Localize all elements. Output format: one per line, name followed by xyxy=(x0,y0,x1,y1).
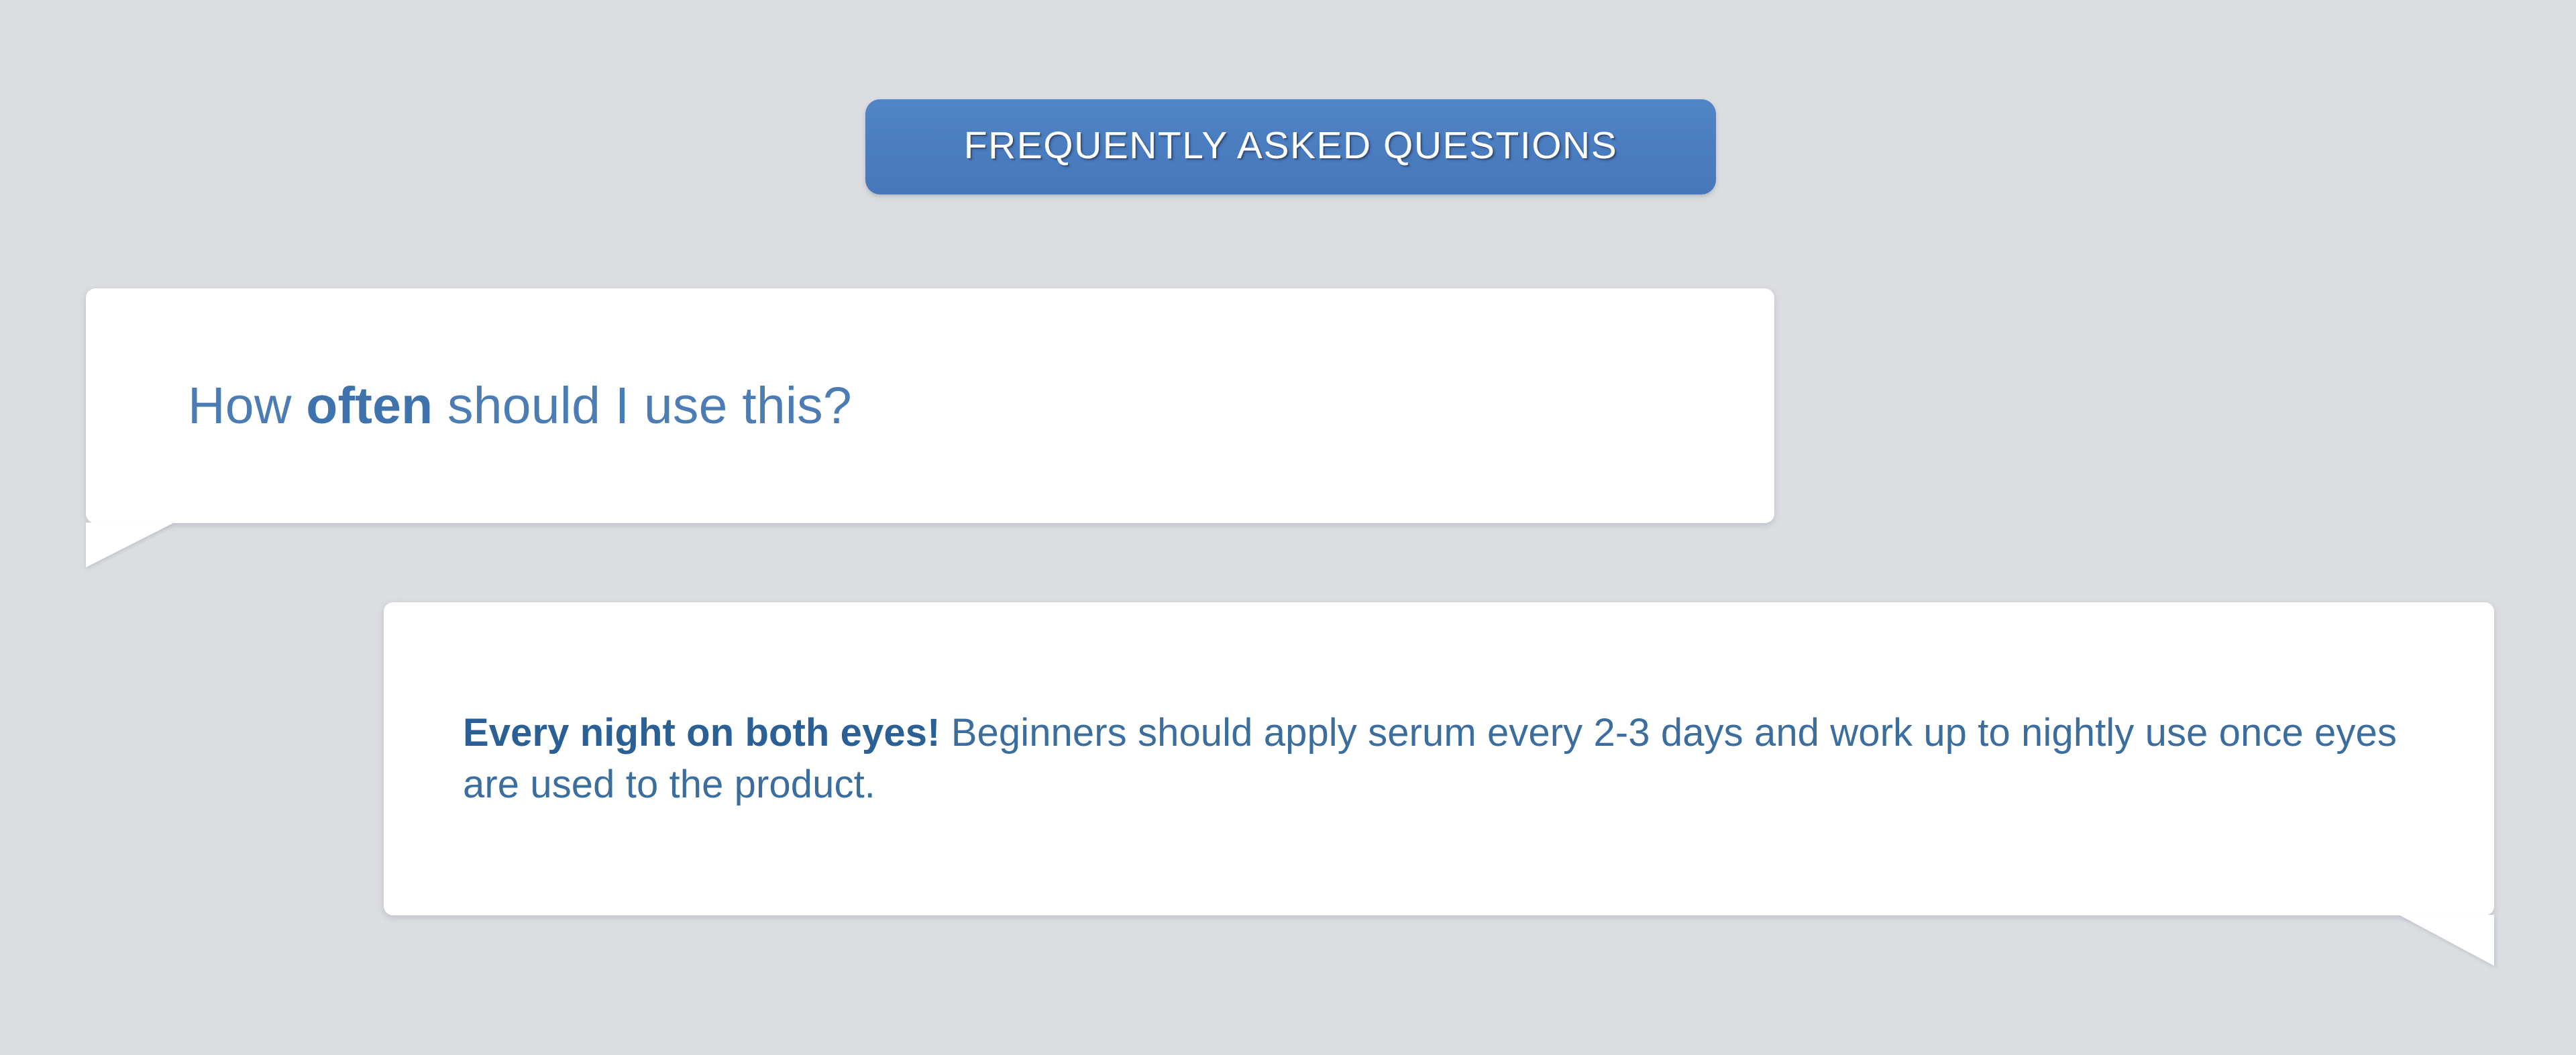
section-badge-label: FREQUENTLY ASKED QUESTIONS xyxy=(964,123,1617,168)
question-bubble-tail xyxy=(86,522,174,567)
question-emphasis: often xyxy=(306,377,433,435)
section-badge: FREQUENTLY ASKED QUESTIONS xyxy=(865,99,1716,195)
faq-question-bubble[interactable]: How often should I use this? xyxy=(86,288,1774,523)
faq-question-text: How often should I use this? xyxy=(86,376,899,437)
question-tail: should I use this? xyxy=(433,377,851,435)
faq-answer-bubble[interactable]: Every night on both eyes! Beginners shou… xyxy=(384,602,2494,915)
answer-emphasis: Every night on both eyes! xyxy=(463,711,941,755)
question-lead: How xyxy=(188,377,306,435)
faq-answer-text: Every night on both eyes! Beginners shou… xyxy=(384,708,2494,810)
faq-section: FREQUENTLY ASKED QUESTIONS How often sho… xyxy=(0,0,2576,1055)
answer-bubble-tail xyxy=(2399,915,2494,966)
